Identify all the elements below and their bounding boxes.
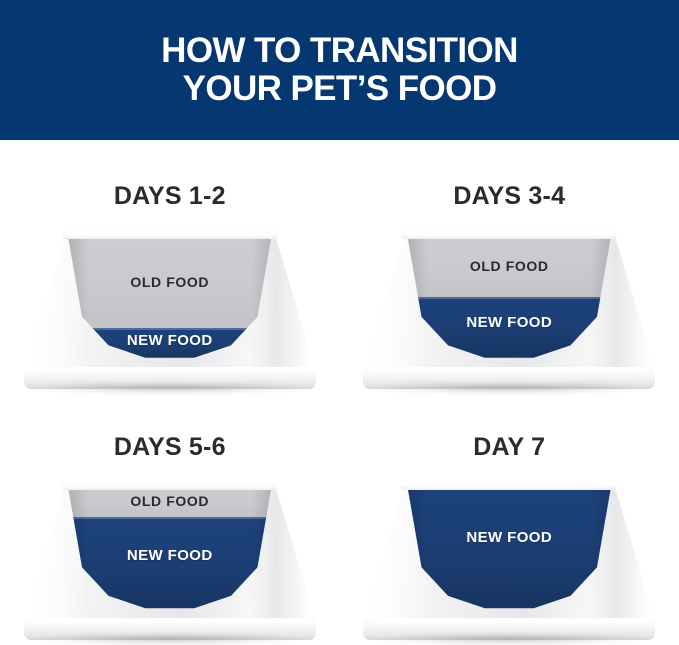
bowl-rim-highlight: [407, 234, 611, 238]
old-food-layer: [407, 235, 611, 297]
bowl-drop-shadow: [38, 635, 302, 645]
food-bowl: NEW FOOD: [367, 480, 651, 640]
bowl-base-highlight: [373, 620, 645, 623]
panel-title: DAYS 1-2: [114, 182, 226, 211]
transition-step-panel: DAYS 3-4 OLD FOOD NEW FOOD: [340, 140, 679, 391]
food-bowl: OLD FOOD NEW FOOD: [367, 229, 651, 389]
header-title-line-2: YOUR PET’S FOOD: [183, 70, 497, 108]
transition-step-panel: DAYS 1-2 OLD FOOD NEW FOOD: [0, 140, 340, 391]
bowl-drop-shadow: [377, 635, 641, 645]
old-food-layer: [68, 235, 272, 328]
bowl-rim-highlight: [407, 485, 611, 489]
bowl-rim-highlight: [68, 485, 272, 489]
food-bowl: OLD FOOD NEW FOOD: [28, 229, 312, 389]
header-title-line-1: HOW TO TRANSITION: [161, 32, 518, 70]
transition-step-panel: DAY 7 NEW FOOD: [340, 391, 679, 642]
header-banner: HOW TO TRANSITION YOUR PET’S FOOD: [0, 0, 679, 140]
panel-title: DAY 7: [473, 433, 545, 462]
transition-step-panel: DAYS 5-6 OLD FOOD NEW FOOD: [0, 391, 340, 642]
panel-title: DAYS 3-4: [453, 182, 565, 211]
bowl-base-highlight: [34, 369, 306, 372]
bowl-base-highlight: [34, 620, 306, 623]
food-bowl: OLD FOOD NEW FOOD: [28, 480, 312, 640]
transition-steps-grid: DAYS 1-2 OLD FOOD NEW FOOD: [0, 140, 679, 641]
infographic-page: HOW TO TRANSITION YOUR PET’S FOOD DAYS 1…: [0, 0, 679, 641]
bowl-base-highlight: [373, 369, 645, 372]
panel-title: DAYS 5-6: [114, 433, 226, 462]
old-food-layer: [68, 486, 272, 517]
bowl-rim-highlight: [68, 234, 272, 238]
